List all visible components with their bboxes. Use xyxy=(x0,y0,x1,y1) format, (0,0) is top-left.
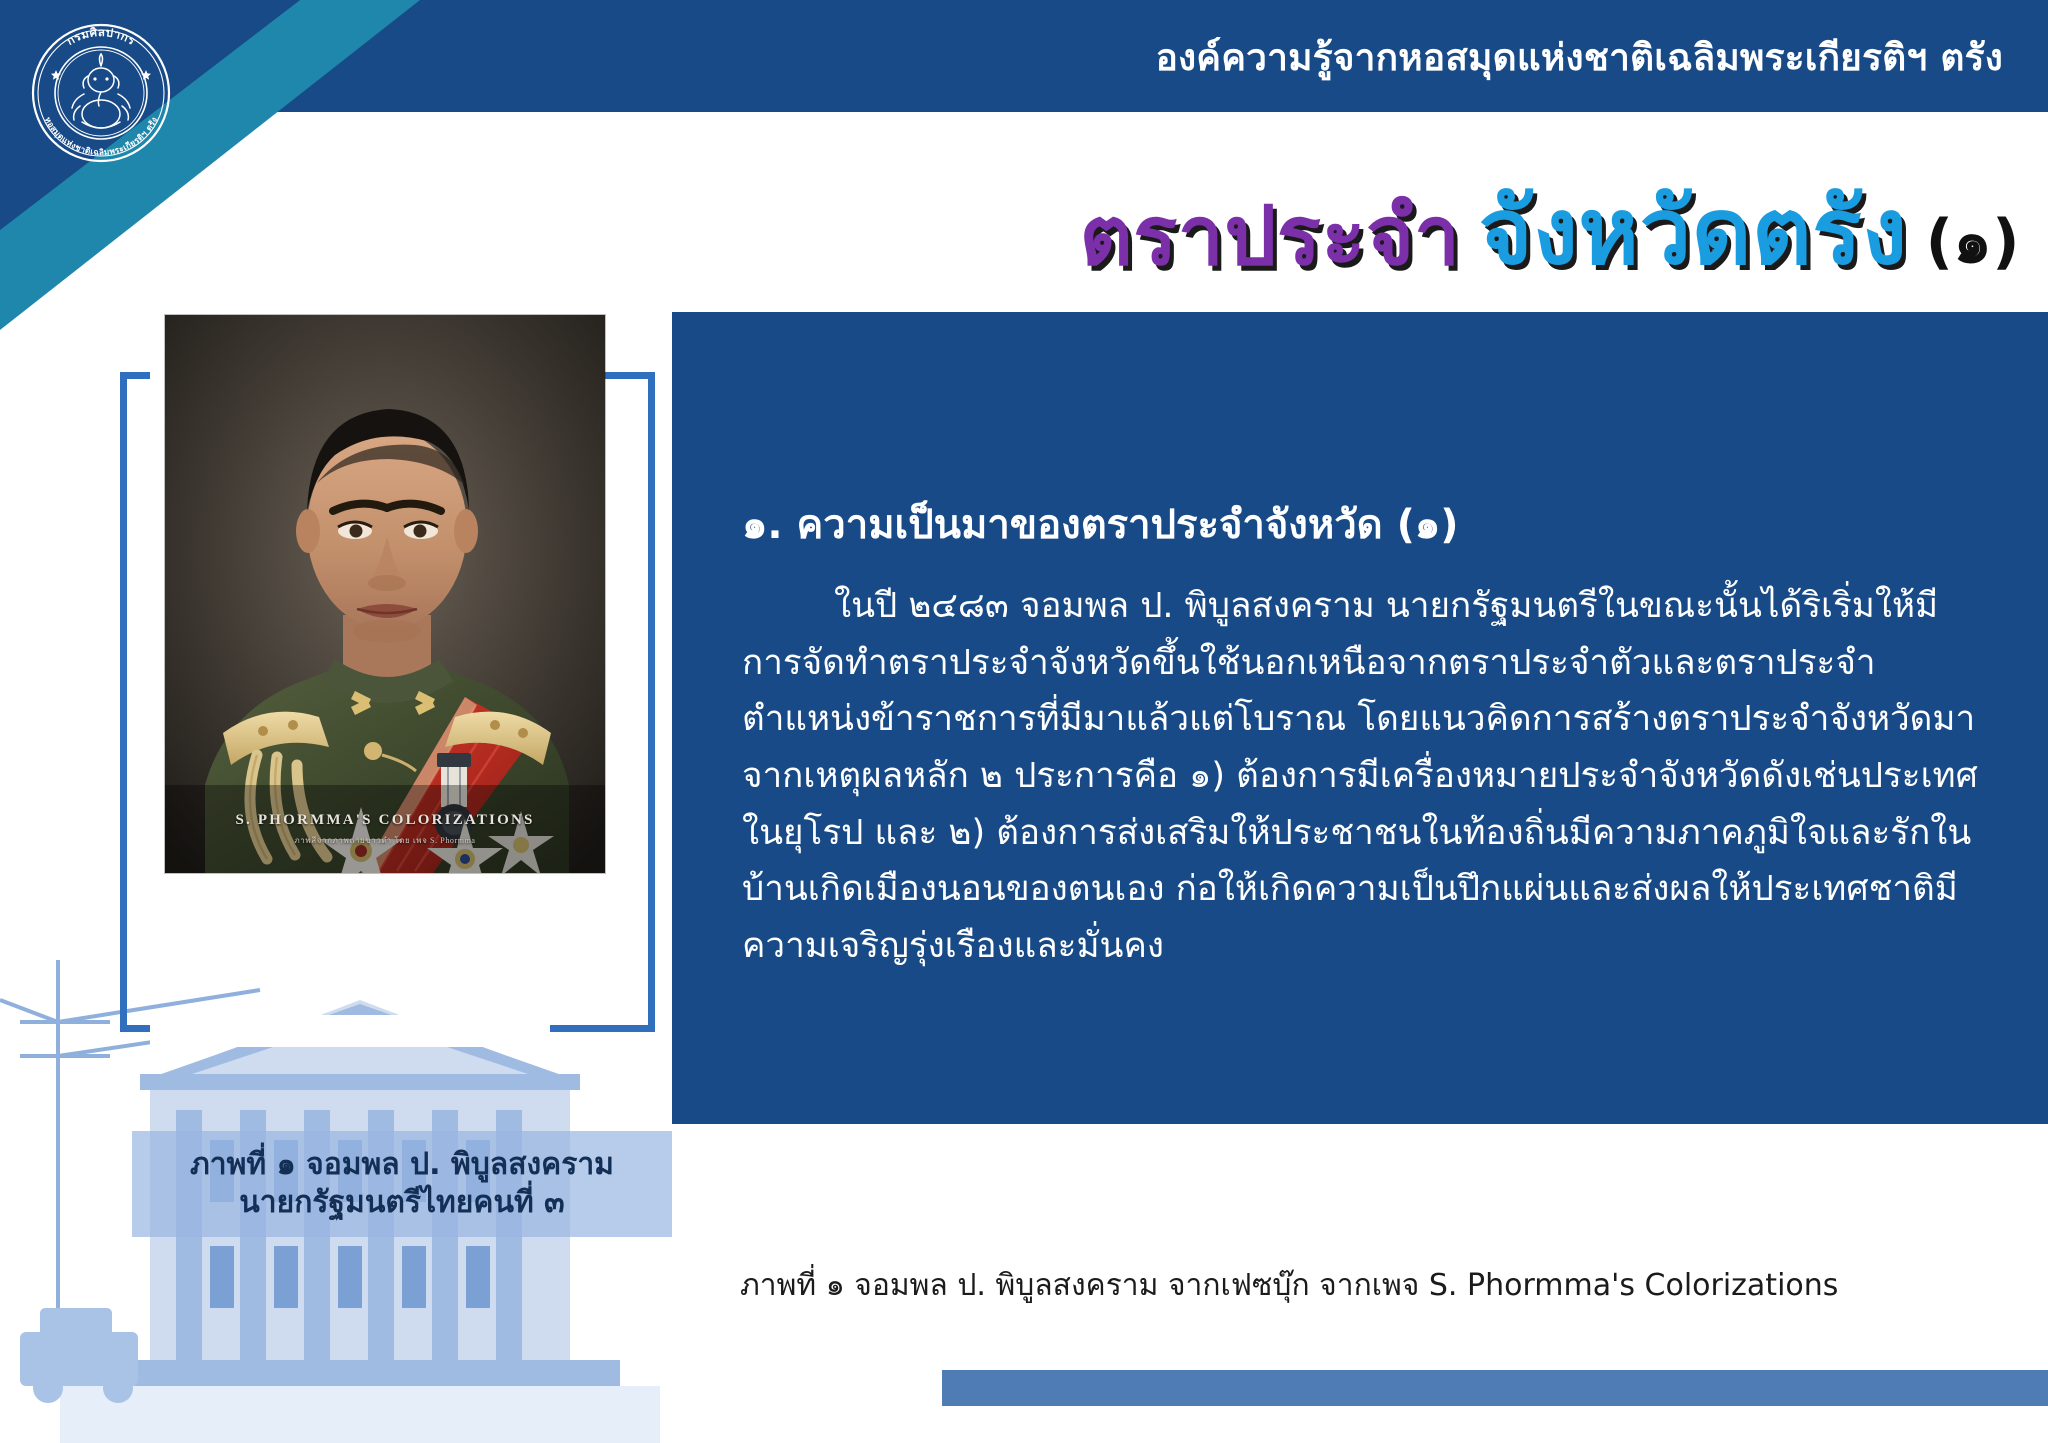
photo-watermark-subtext: ภาพสีจากภาพถ่ายขาวดำ โดย เพจ S. Phormma xyxy=(165,834,605,847)
fine-arts-department-seal-icon: กรมศิลปากร หอสมุดแห่งชาติเฉลิมพระเกียรติ… xyxy=(22,14,180,172)
header-title: องค์ความรู้จากหอสมุดแห่งชาติเฉลิมพระเกีย… xyxy=(1156,28,2003,87)
portrait-photo: S. PHORMMA'S COLORIZATIONS ภาพสีจากภาพถ่… xyxy=(165,315,605,873)
page-title-part-1: ตราประจำ xyxy=(1080,196,1461,278)
source-credit: ภาพที่ ๑ จอมพล ป. พิบูลสงคราม จากเฟซบุ๊ก… xyxy=(740,1262,1838,1309)
photo-watermark: S. PHORMMA'S COLORIZATIONS xyxy=(165,812,605,829)
page-title: ตราประจำ จังหวัดตรัง (๑) xyxy=(520,168,2020,278)
section-heading: ๑. ความเป็นมาของตราประจำจังหวัด (๑) xyxy=(742,492,1459,556)
svg-text:กรมศิลปากร: กรมศิลปากร xyxy=(64,25,138,48)
photo-caption-line-2: นายกรัฐมนตรีไทยคนที่ ๓ xyxy=(239,1184,564,1222)
slide-root: องค์ความรู้จากหอสมุดแห่งชาติเฉลิมพระเกีย… xyxy=(0,0,2048,1443)
body-paragraph: ในปี ๒๔๘๓ จอมพล ป. พิบูลสงคราม นายกรัฐมน… xyxy=(742,578,1988,975)
page-title-part-2: จังหวัดตรัง xyxy=(1479,186,1908,278)
page-title-number: (๑) xyxy=(1926,212,2020,278)
photo-frame-mask-bottom xyxy=(150,1015,550,1047)
photo-caption-box: ภาพที่ ๑ จอมพล ป. พิบูลสงคราม นายกรัฐมนต… xyxy=(132,1131,672,1237)
photo-caption-line-1: ภาพที่ ๑ จอมพล ป. พิบูลสงคราม xyxy=(190,1146,614,1184)
footer-accent-bar xyxy=(942,1370,2048,1406)
